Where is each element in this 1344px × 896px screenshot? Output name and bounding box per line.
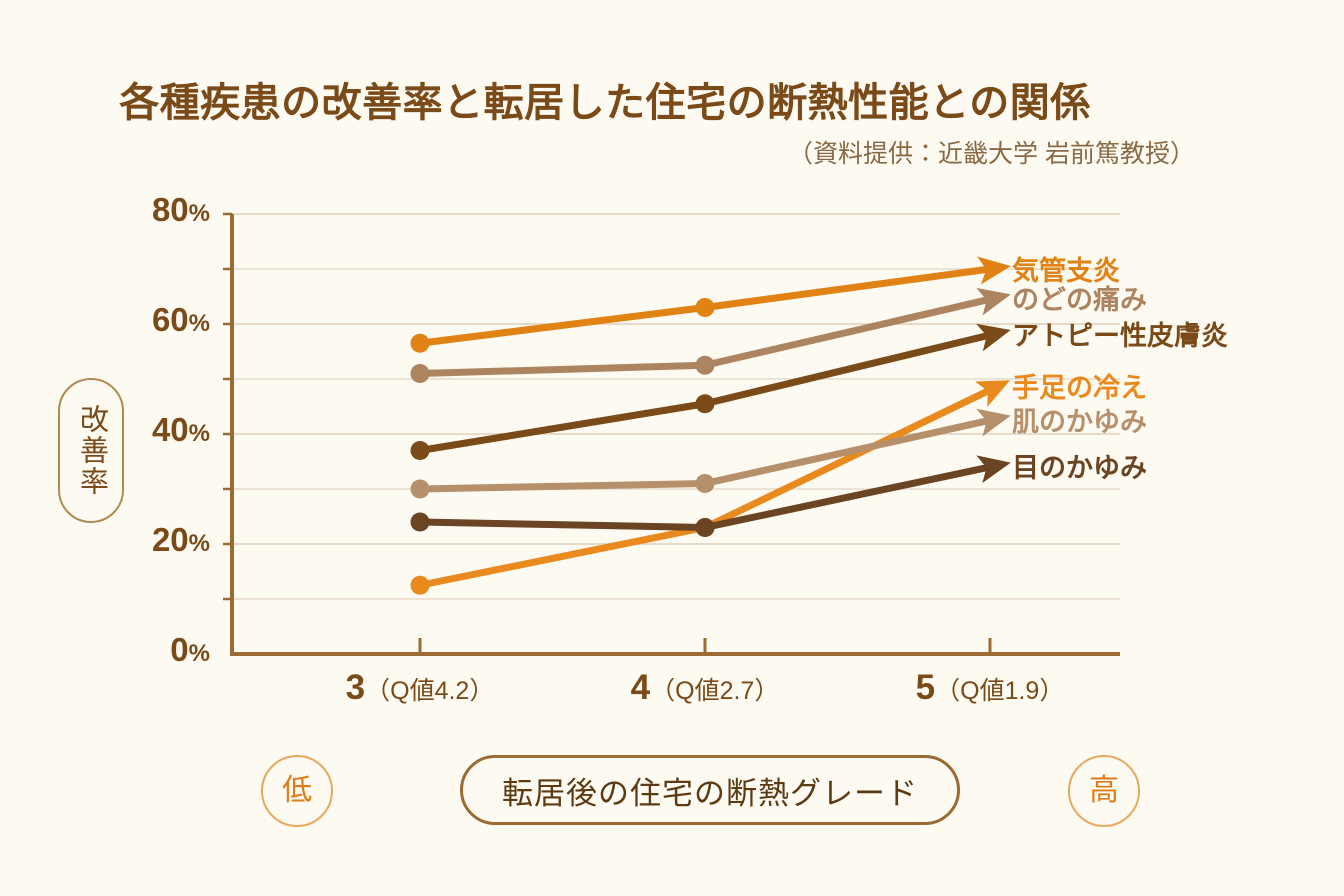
y-axis-label: 改善率 bbox=[58, 378, 124, 523]
series-line-segment bbox=[420, 484, 705, 490]
data-point bbox=[411, 364, 430, 383]
page-title: 各種疾患の改善率と転居した住宅の断熱性能との関係 bbox=[0, 70, 1210, 128]
chart-canvas: 各種疾患の改善率と転居した住宅の断熱性能との関係 （資料提供：近畿大学 岩前篤教… bbox=[0, 0, 1344, 896]
series-3 bbox=[411, 332, 1003, 460]
grade-arrow-pill: 転居後の住宅の断熱グレード bbox=[460, 755, 960, 825]
data-point bbox=[411, 441, 430, 460]
grade-low-label: 低 bbox=[282, 776, 312, 806]
series-line-arrow bbox=[705, 267, 1002, 307]
data-point bbox=[411, 334, 430, 353]
series-4 bbox=[411, 384, 1003, 595]
y-axis-tick-40: 40% bbox=[0, 411, 210, 449]
series-line-segment bbox=[420, 522, 705, 528]
series-6 bbox=[411, 464, 1003, 537]
data-point bbox=[696, 518, 715, 537]
series-line-segment bbox=[420, 365, 705, 373]
series-1 bbox=[411, 267, 1003, 352]
grade-high-marker: 高 bbox=[1068, 755, 1140, 827]
grade-high-label: 高 bbox=[1089, 776, 1119, 806]
data-point bbox=[696, 298, 715, 317]
series-label-5: 肌のかゆみ bbox=[1012, 400, 1147, 439]
series-line-arrow bbox=[705, 332, 1002, 404]
series-line-segment bbox=[420, 308, 705, 344]
series-line-arrow bbox=[705, 464, 1002, 527]
series-line-segment bbox=[420, 528, 705, 586]
data-point bbox=[411, 513, 430, 532]
grade-low-marker: 低 bbox=[261, 755, 333, 827]
data-point bbox=[696, 394, 715, 413]
series-label-6: 目のかゆみ bbox=[1012, 446, 1147, 485]
series-label-3: アトピー性皮膚炎 bbox=[1012, 314, 1228, 353]
series-5 bbox=[411, 418, 1003, 499]
data-point bbox=[411, 480, 430, 499]
grade-arrow-label: 転居後の住宅の断熱グレード bbox=[502, 768, 918, 813]
series-line-arrow bbox=[705, 384, 1002, 527]
y-axis-tick-80: 80% bbox=[0, 191, 210, 229]
x-axis-tick-4: 4（Q値2.7） bbox=[575, 668, 835, 708]
y-axis-tick-20: 20% bbox=[0, 521, 210, 559]
chart-source-credit: （資料提供：近畿大学 岩前篤教授） bbox=[0, 134, 1195, 170]
series-line-segment bbox=[420, 404, 705, 451]
series-line-arrow bbox=[705, 418, 1002, 484]
x-axis-tick-3: 3（Q値4.2） bbox=[290, 668, 550, 708]
data-point bbox=[411, 576, 430, 595]
series-line-arrow bbox=[705, 296, 1002, 365]
y-axis-tick-0: 0% bbox=[0, 631, 210, 669]
series-label-2: のどの痛み bbox=[1012, 278, 1147, 317]
insulation-grade-arrow: 転居後の住宅の断熱グレード bbox=[340, 737, 1050, 843]
data-point bbox=[696, 356, 715, 375]
axis-lines bbox=[232, 214, 1120, 654]
data-point bbox=[696, 474, 715, 493]
data-point bbox=[696, 518, 715, 537]
y-axis-tick-60: 60% bbox=[0, 301, 210, 339]
x-axis-tick-5: 5（Q値1.9） bbox=[860, 668, 1120, 708]
series-2 bbox=[411, 296, 1003, 383]
